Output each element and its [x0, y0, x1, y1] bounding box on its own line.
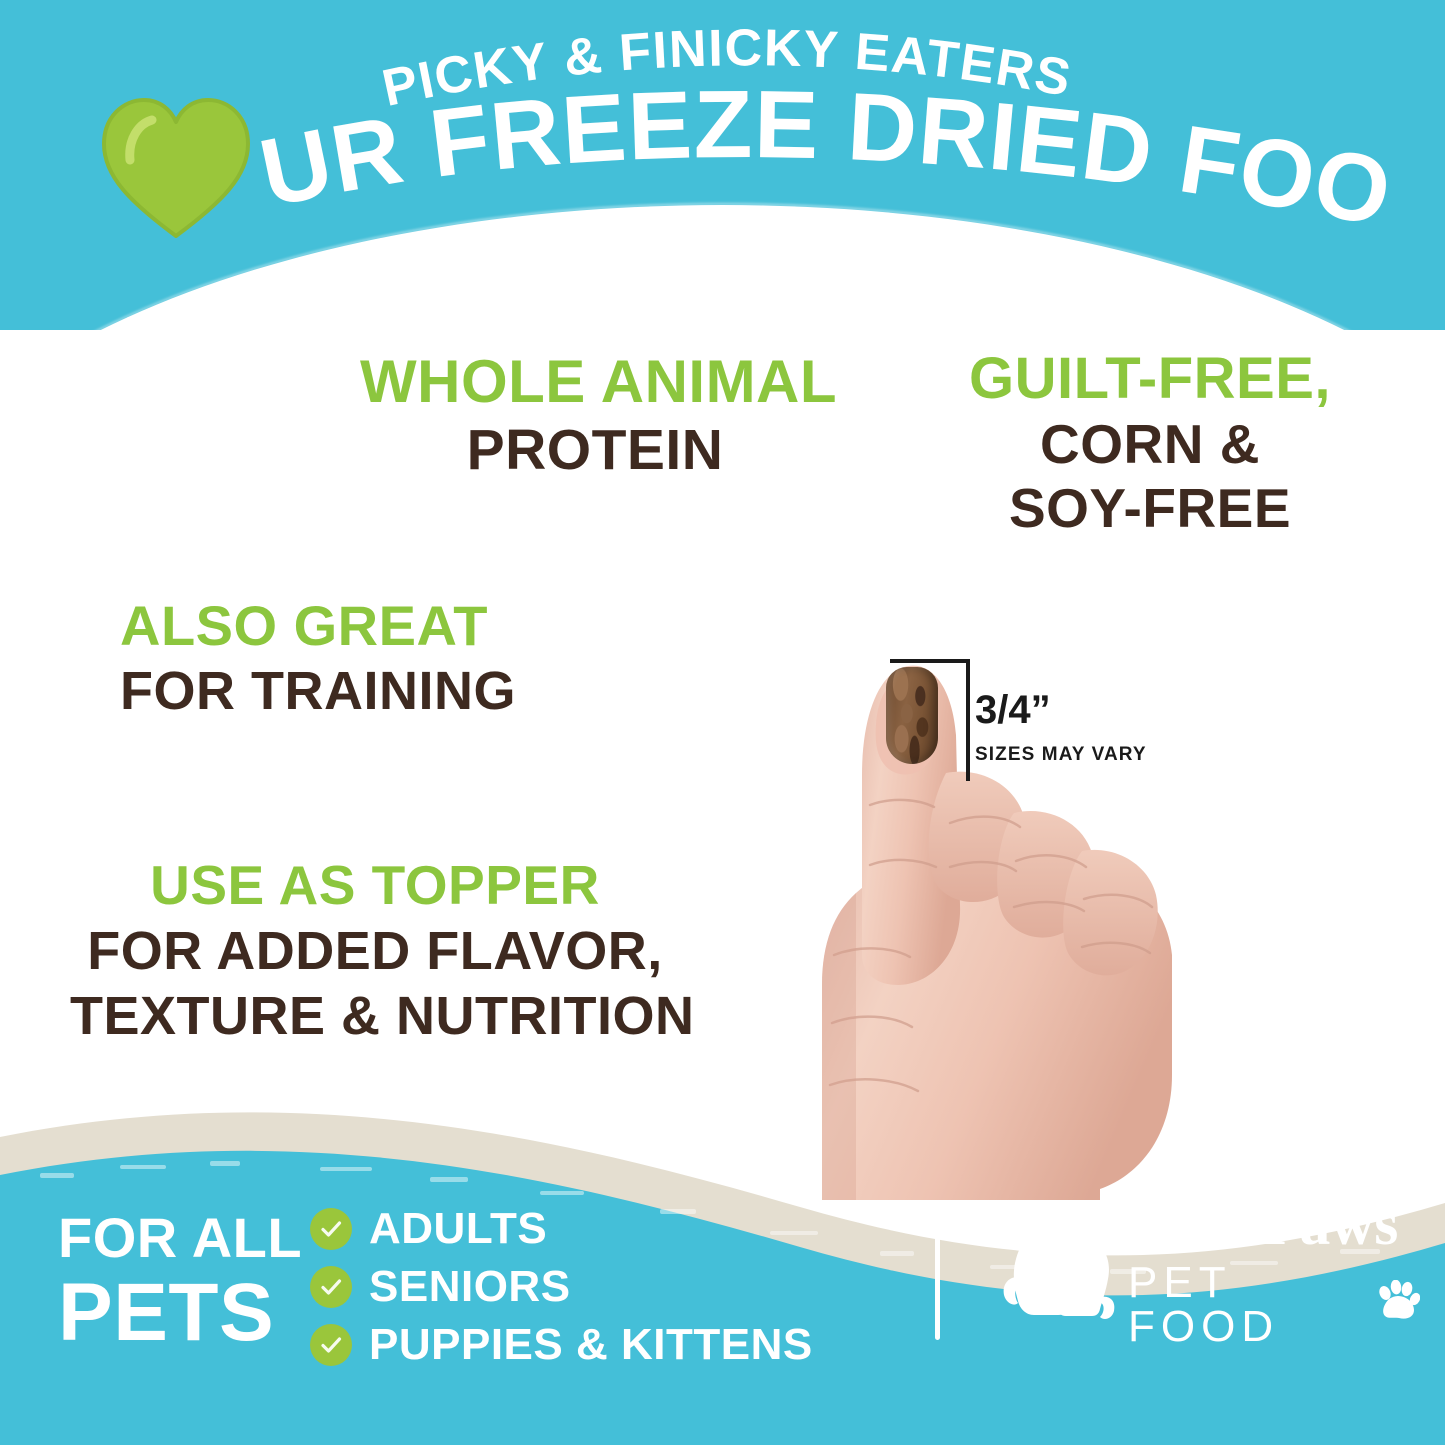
feature-guilt-free: GUILT-FREE, CORN & SOY-FREE [955, 350, 1345, 536]
heart-icon [100, 96, 252, 240]
footer-banner: FOR ALL PETS ADULTS [0, 1085, 1445, 1445]
check-circle-icon [310, 1208, 352, 1250]
logo-brand-text: Raw Paws [1128, 1190, 1398, 1258]
feature-green-line: GUILT-FREE, [955, 350, 1345, 408]
bracket-top-tick [890, 659, 970, 663]
size-disclaimer: SIZES MAY VARY [975, 744, 1147, 766]
feature-also-great-for-training: ALSO GREAT FOR TRAINING [120, 598, 680, 718]
feature-green-line: WHOLE ANIMAL [360, 352, 830, 412]
registered-trademark-icon: ® [1408, 1189, 1424, 1211]
footer-divider [935, 1200, 940, 1340]
pet-types-checklist: ADULTS SENIORS PUP [310, 1207, 813, 1381]
feature-green-line: USE AS TOPPER [70, 858, 680, 913]
for-all-pets-heading: FOR ALL PETS [58, 1210, 302, 1354]
feature-brown-line: FOR TRAINING [120, 664, 680, 718]
size-measurement-bracket [890, 659, 970, 781]
dog-and-cat-silhouette-icon [1000, 1191, 1118, 1323]
feature-brown-line: CORN & [955, 417, 1345, 472]
brand-logo: Raw Paws® PET FOOD [1000, 1185, 1420, 1355]
checklist-item-seniors: SENIORS [310, 1265, 813, 1309]
for-all-line-2: PETS [58, 1272, 302, 1354]
logo-tagline-row: PET FOOD [1128, 1261, 1420, 1349]
logo-wordmark: Raw Paws® PET FOOD [1128, 1193, 1420, 1349]
checklist-label: PUPPIES & KITTENS [369, 1323, 813, 1367]
bracket-vertical-bar [966, 659, 970, 781]
checklist-item-adults: ADULTS [310, 1207, 813, 1251]
checklist-item-puppies-kittens: PUPPIES & KITTENS [310, 1323, 813, 1367]
logo-tagline: PET FOOD [1128, 1261, 1364, 1349]
paw-print-icon [1376, 1280, 1420, 1330]
feature-brown-line: TEXTURE & NUTRITION [70, 989, 680, 1043]
size-value: 3/4” [975, 690, 1147, 730]
feature-use-as-topper: USE AS TOPPER FOR ADDED FLAVOR, TEXTURE … [70, 858, 680, 1043]
check-circle-icon [310, 1324, 352, 1366]
for-all-line-1: FOR ALL [58, 1210, 302, 1266]
size-measurement-label: 3/4” SIZES MAY VARY [975, 690, 1147, 766]
feature-whole-animal-protein: WHOLE ANIMAL PROTEIN [360, 352, 830, 479]
logo-brand-name: Raw Paws® [1128, 1193, 1398, 1255]
checklist-label: ADULTS [369, 1207, 547, 1251]
check-circle-icon [310, 1266, 352, 1308]
feature-brown-line: SOY-FREE [955, 481, 1345, 536]
infographic-canvas: PICKY & FINICKY EATERS OUR FREEZE DRIED … [0, 0, 1445, 1445]
checklist-label: SENIORS [369, 1265, 571, 1309]
feature-brown-line: FOR ADDED FLAVOR, [70, 924, 680, 978]
feature-green-line: ALSO GREAT [120, 598, 680, 654]
feature-brown-line: PROTEIN [360, 422, 830, 479]
